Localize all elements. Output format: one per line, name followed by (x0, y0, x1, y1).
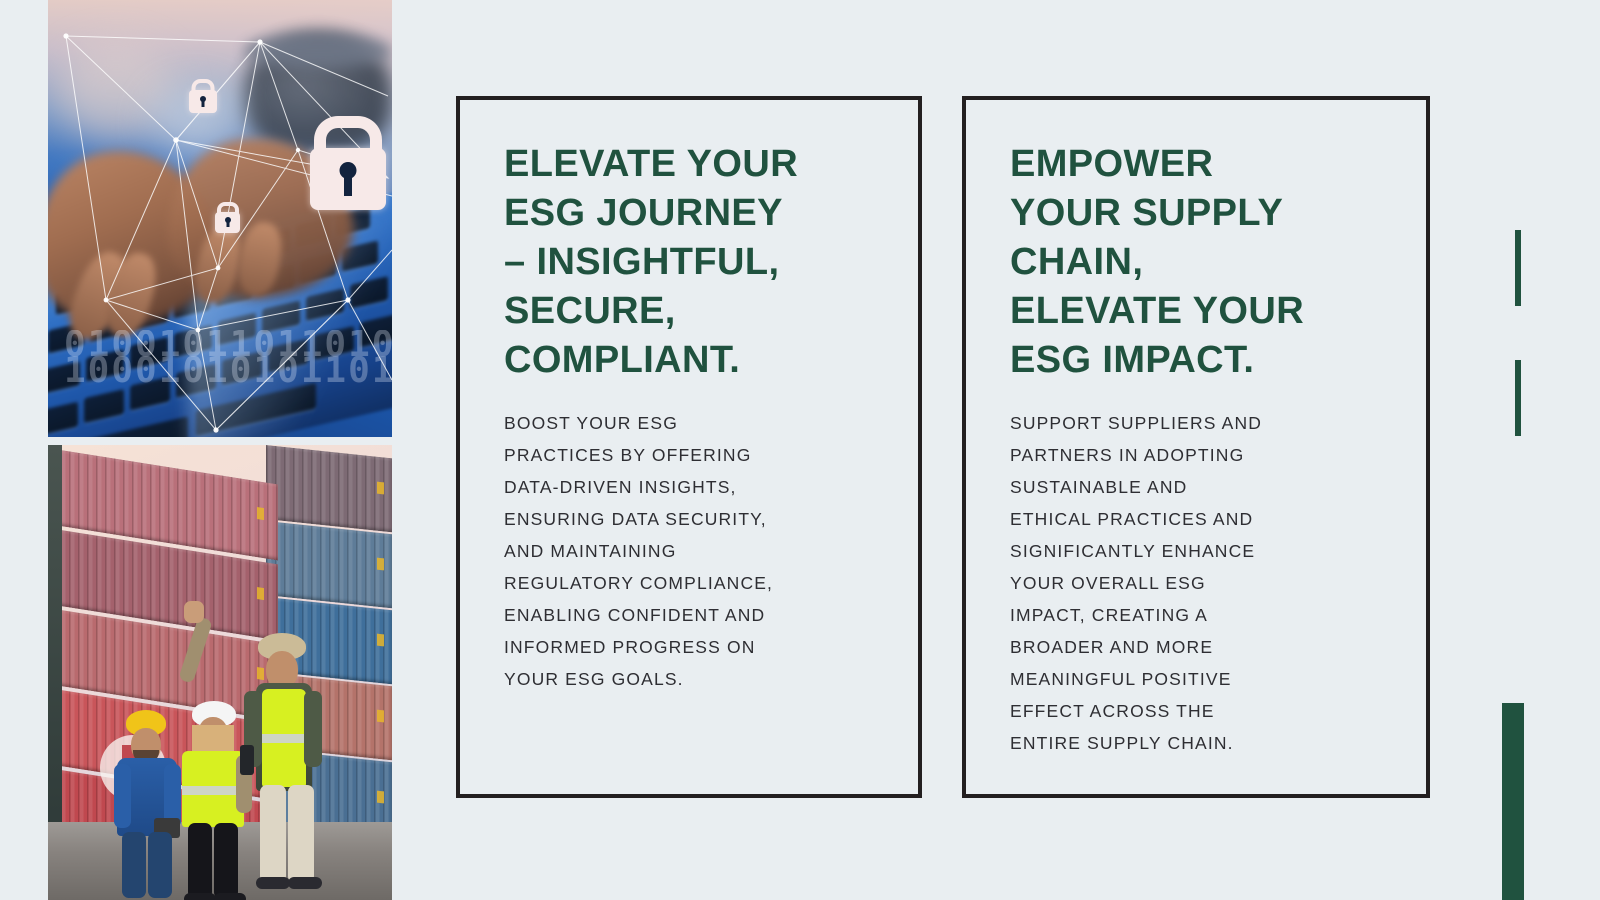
raised-hand (184, 601, 204, 623)
arm (304, 691, 322, 767)
worker-tan-cap (232, 633, 340, 900)
padlock-icon-small-bottom (215, 212, 240, 233)
accent-tick-bottom (1515, 360, 1521, 436)
cybersecurity-typing-photo: 0100101101101001 1000101010110111 (48, 0, 392, 437)
leg (122, 832, 146, 898)
card-heading: EMPOWER YOUR SUPPLY CHAIN, ELEVATE YOUR … (1010, 140, 1382, 385)
card-body-text: BOOST YOUR ESG PRACTICES BY OFFERING DAT… (504, 407, 874, 695)
shoe (256, 877, 290, 889)
shoe (184, 893, 216, 900)
leg (260, 785, 286, 883)
leg (288, 785, 314, 883)
arm (114, 764, 131, 828)
hi-vis-vest (262, 689, 306, 787)
leg (188, 823, 212, 899)
padlock-icon-large (310, 148, 386, 210)
accent-tick-top (1515, 230, 1521, 306)
image-column: 0100101101101001 1000101010110111 (48, 0, 392, 900)
card-content: ELEVATE YOUR ESG JOURNEY – INSIGHTFUL, S… (460, 100, 918, 695)
card-content: EMPOWER YOUR SUPPLY CHAIN, ELEVATE YOUR … (966, 100, 1426, 759)
shoe (288, 877, 322, 889)
card-body-text: SUPPORT SUPPLIERS AND PARTNERS IN ADOPTI… (1010, 407, 1382, 759)
radio-handset (240, 745, 254, 775)
padlock-icon-small-top (189, 90, 217, 113)
accent-bar (1502, 703, 1524, 900)
content-card-esg-journey: ELEVATE YOUR ESG JOURNEY – INSIGHTFUL, S… (456, 96, 922, 798)
card-heading: ELEVATE YOUR ESG JOURNEY – INSIGHTFUL, S… (504, 140, 874, 385)
shipping-container-workers-photo (48, 445, 392, 900)
container-edge-pillar (48, 445, 62, 845)
content-card-supply-chain: EMPOWER YOUR SUPPLY CHAIN, ELEVATE YOUR … (962, 96, 1430, 798)
